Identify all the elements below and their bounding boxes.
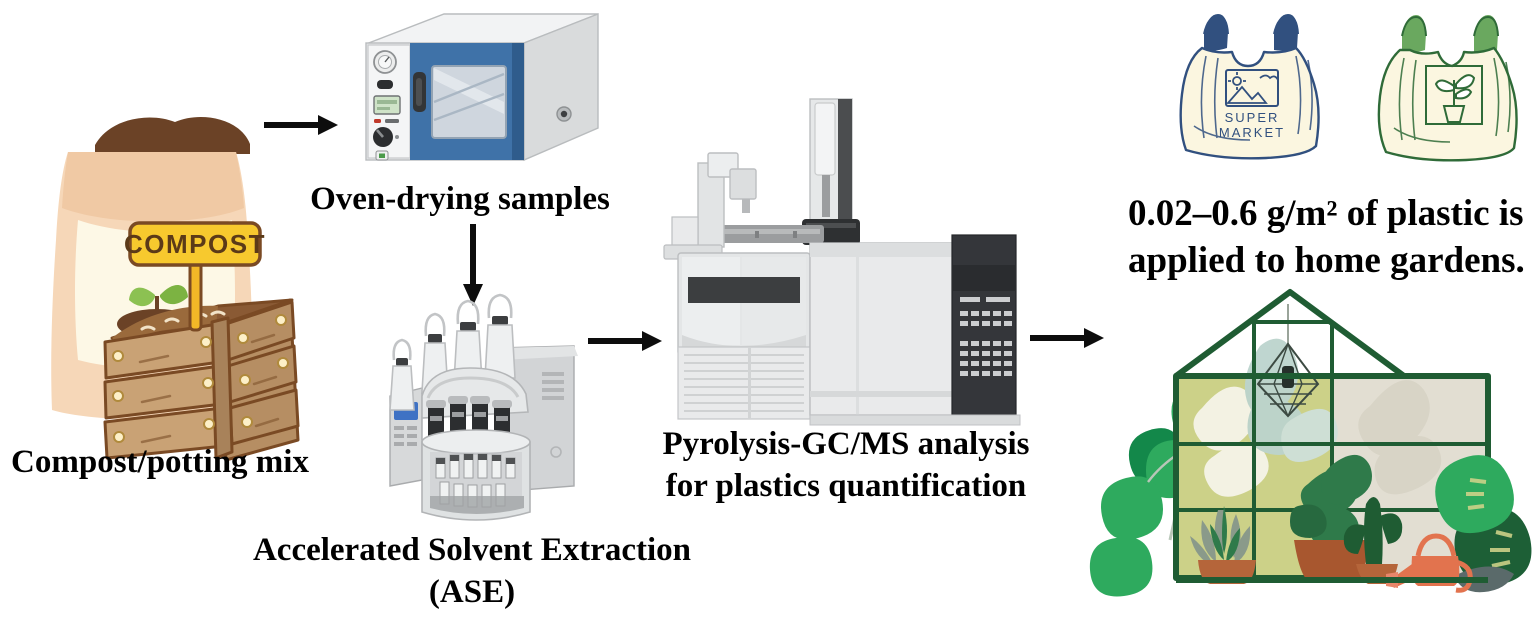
- arrow-oven-to-ase: [455, 222, 491, 310]
- caption-gcms-line1: Pyrolysis-GC/MS analysis: [636, 425, 1056, 464]
- supermarket-bag-icon: SUPER MARKET: [1168, 8, 1338, 168]
- ase-instrument-icon: [378, 300, 598, 532]
- arrow-compost-to-oven: [262, 108, 342, 142]
- arrow-ase-to-gcms: [586, 324, 666, 358]
- greenhouse-icon: [1098, 288, 1536, 618]
- supermarket-bag-group: SUPER MARKET: [1168, 8, 1338, 168]
- ase-group: [378, 300, 598, 532]
- plant-bag-icon: [1370, 8, 1536, 168]
- greenhouse-group: [1098, 288, 1536, 618]
- arrow-gcms-to-outcome: [1028, 321, 1108, 355]
- oven-group: [352, 10, 602, 180]
- outcome-statement-line2: applied to home gardens.: [1128, 239, 1536, 283]
- caption-gcms-line2: for plastics quantification: [636, 467, 1056, 506]
- caption-compost: Compost/potting mix: [0, 443, 320, 482]
- bag-fold-icon: [62, 152, 244, 222]
- caption-oven: Oven-drying samples: [300, 180, 620, 219]
- supermarket-bag-label-line2: MARKET: [1219, 125, 1285, 140]
- caption-ase-line2: (ASE): [222, 573, 722, 612]
- compost-sign-label: COMPOST: [124, 229, 266, 259]
- arrow-right-icon: [262, 108, 342, 142]
- arrow-down-icon: [455, 222, 491, 310]
- compost-crate-icon: COMPOST: [105, 223, 298, 460]
- soil-heap-icon: [95, 117, 250, 154]
- caption-ase-line1: Accelerated Solvent Extraction: [222, 531, 722, 570]
- vacuum-oven-icon: [352, 10, 602, 180]
- plant-bag-group: [1370, 8, 1536, 168]
- compost-illustration: COMPOST: [0, 110, 330, 450]
- outcome-statement-line1: 0.02–0.6 g/m² of plastic is: [1128, 192, 1536, 236]
- gcms-group: [660, 95, 1060, 430]
- arrow-right-icon: [586, 324, 666, 358]
- compost-group: COMPOST: [0, 110, 330, 450]
- gcms-instrument-icon: [660, 95, 1060, 430]
- graphical-abstract: COMPOST Compost/potting mix: [0, 0, 1536, 618]
- arrow-right-icon: [1028, 321, 1108, 355]
- supermarket-bag-label-line1: SUPER: [1225, 110, 1280, 125]
